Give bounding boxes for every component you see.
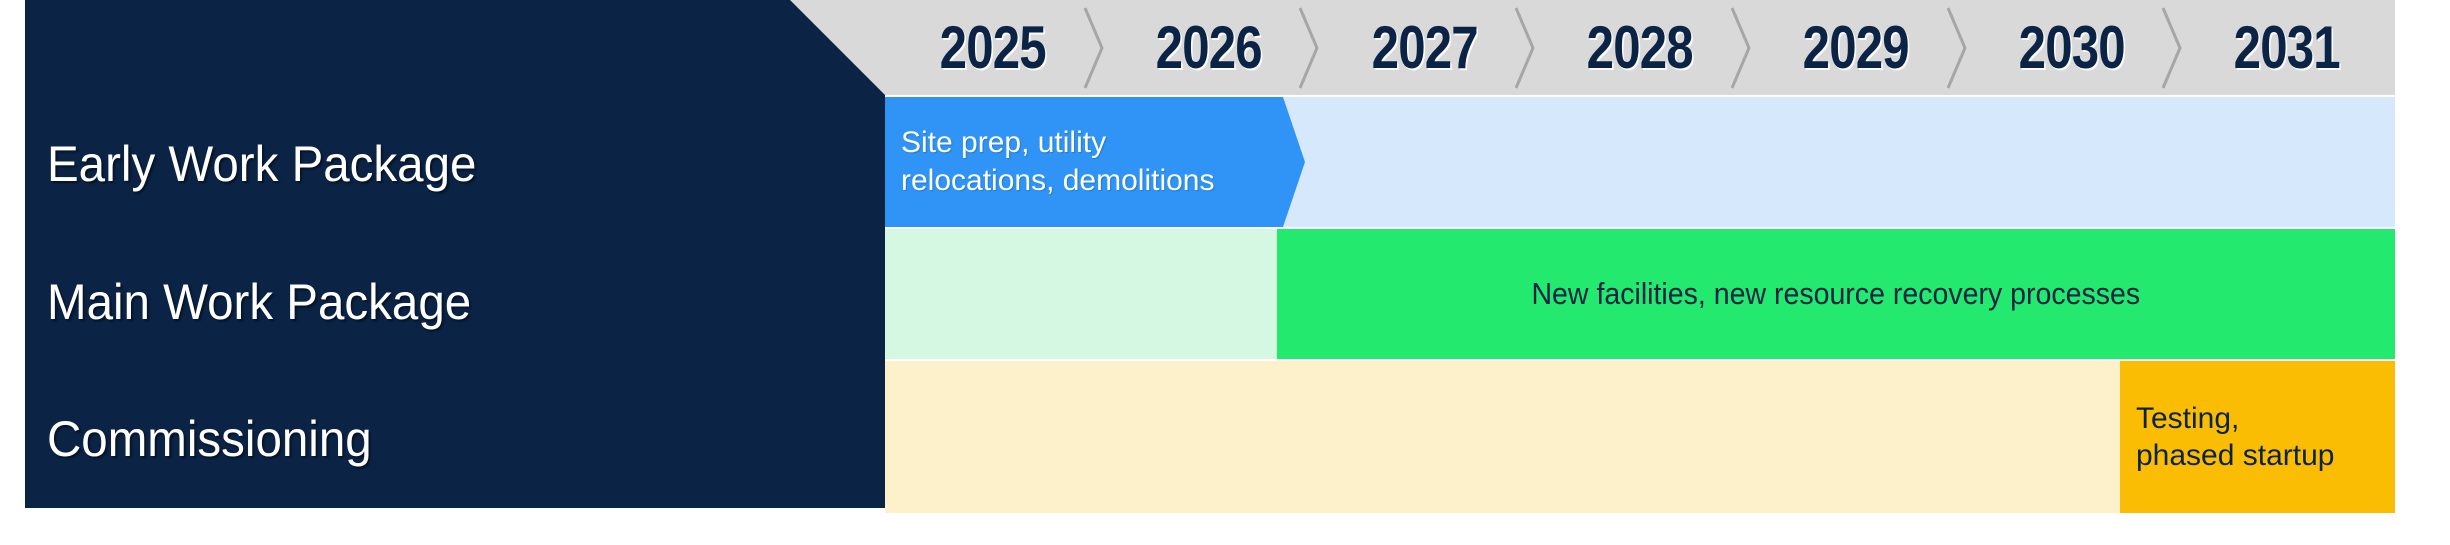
row-label-text: Early Work Package [47, 135, 476, 193]
row-label-commissioning: Commissioning [25, 370, 865, 508]
year-cell-2030[interactable]: 2030 [1964, 0, 2180, 95]
year-label: 2026 [1155, 18, 1261, 78]
year-label: 2025 [940, 18, 1046, 78]
bar-main-work-package[interactable]: New facilities, new resource recovery pr… [1277, 229, 2395, 359]
row-label-main-work-package: Main Work Package [25, 233, 865, 371]
track-main-work-package: New facilities, new resource recovery pr… [885, 229, 2395, 359]
row-label-early-work-package: Early Work Package [25, 95, 865, 233]
year-cell-2031[interactable]: 2031 [2179, 0, 2395, 95]
track-early-work-package: Site prep, utility relocations, demoliti… [885, 97, 2395, 227]
bar-label: New facilities, new resource recovery pr… [1532, 276, 2141, 312]
track-commissioning: Testing, phased startup [885, 361, 2395, 513]
project-roadmap-timeline: 2025 2026 2027 2028 [0, 0, 2450, 545]
year-cell-list: 2025 2026 2027 2028 [885, 0, 2395, 95]
year-cell-2028[interactable]: 2028 [1532, 0, 1748, 95]
bar-early-work-package[interactable]: Site prep, utility relocations, demoliti… [885, 97, 1305, 227]
year-label: 2031 [2234, 18, 2340, 78]
row-label-list: Early Work Package Main Work Package Com… [25, 95, 865, 508]
year-label: 2027 [1371, 18, 1477, 78]
year-label: 2028 [1587, 18, 1693, 78]
bar-label: Site prep, utility relocations, demoliti… [901, 124, 1215, 201]
year-cell-2029[interactable]: 2029 [1748, 0, 1964, 95]
year-cell-2027[interactable]: 2027 [1316, 0, 1532, 95]
bar-label: Testing, phased startup [2136, 400, 2334, 475]
year-cell-2025[interactable]: 2025 [885, 0, 1101, 95]
bar-commissioning[interactable]: Testing, phased startup [2120, 361, 2395, 513]
timeline-tracks: Site prep, utility relocations, demoliti… [885, 95, 2395, 515]
year-label: 2030 [2018, 18, 2124, 78]
year-cell-2026[interactable]: 2026 [1101, 0, 1317, 95]
year-label: 2029 [1803, 18, 1909, 78]
timeline-year-header: 2025 2026 2027 2028 [760, 0, 2395, 95]
row-label-text: Main Work Package [47, 273, 471, 331]
row-label-text: Commissioning [47, 410, 372, 468]
